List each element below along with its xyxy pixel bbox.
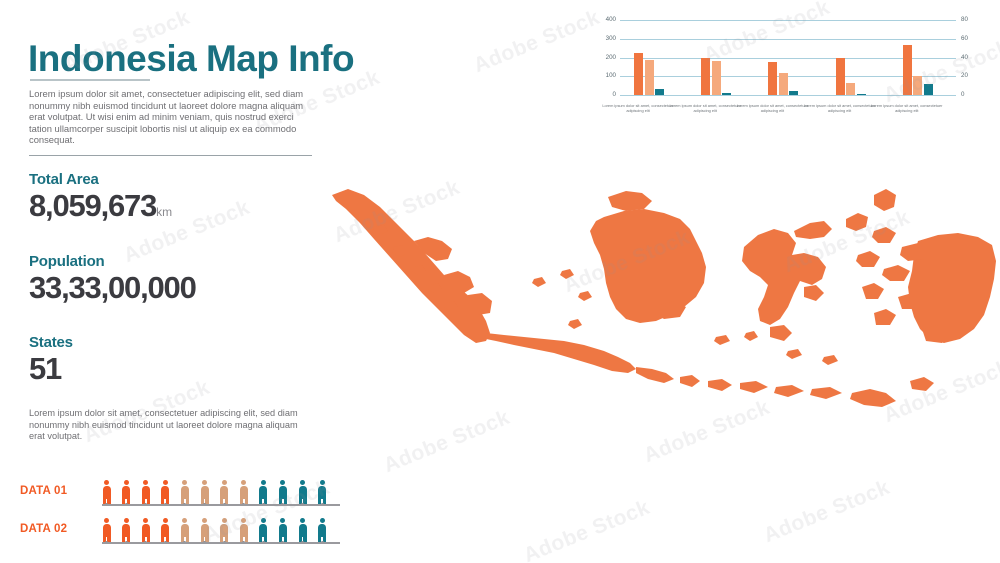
chart-category-label: Lorem ipsum dolor sit amet, consectetuer… [804,104,876,113]
chart-right-axis-tick: 0 [961,92,983,98]
map-region [862,283,884,299]
map-region [708,379,732,391]
person-icon [298,480,307,504]
person-icon [259,480,268,504]
indonesia-map [318,175,1000,460]
map-region [846,213,868,231]
person-icon [200,480,209,504]
person-icon [259,518,268,542]
stat-states: States 51 [29,334,73,387]
chart-right-axis-tick: 60 [961,36,983,42]
pictogram-baseline [102,504,340,506]
stat-total-area-label: Total Area [29,171,172,188]
chart-bar-group [768,20,798,95]
person-icon [278,480,287,504]
chart-category-label: Lorem ipsum dolor sit amet, consectetuer… [736,104,808,113]
footer-paragraph: Lorem ipsum dolor sit amet, consectetuer… [29,408,299,443]
bar-chart: 4008030060200401002000Lorem ipsum dolor … [592,14,990,114]
map-region [680,375,700,387]
chart-bar [779,73,788,95]
map-region [744,331,758,341]
pictogram-row-label: DATA 01 [20,485,96,497]
chart-bar [846,83,855,95]
chart-bar [645,60,654,95]
chart-left-axis-tick: 200 [594,55,616,61]
map-region [794,221,832,239]
map-region [770,325,792,341]
intro-paragraph: Lorem ipsum dolor sit amet, consectetuer… [29,88,319,146]
chart-category-label: Lorem ipsum dolor sit amet, consectetuer… [871,104,943,113]
title-underline [30,79,150,81]
map-region [590,209,706,323]
stat-states-label: States [29,334,73,351]
person-icon [161,480,170,504]
person-icon [239,480,248,504]
chart-category-label: Lorem ipsum dolor sit amet, consectetuer… [669,104,741,113]
stat-states-value: 51 [29,351,73,387]
map-region [774,385,804,397]
watermark-tile: Adobe Stock [520,496,653,563]
chart-left-axis-tick: 300 [594,36,616,42]
watermark-tile: Adobe Stock [470,6,603,78]
chart-bar [836,58,845,95]
person-icon [102,518,111,542]
chart-bar [722,93,731,95]
person-icon [318,480,327,504]
person-icon [122,480,131,504]
person-icon [220,518,229,542]
chart-gridline [620,95,956,96]
person-icon [141,480,150,504]
chart-bar [857,94,866,96]
map-region [874,309,896,325]
map-region [636,367,674,383]
map-region [568,319,582,329]
chart-bar-group [634,20,664,95]
chart-category-label: Lorem ipsum dolor sit amet, consectetuer… [602,104,674,113]
info-panel: Indonesia Map Info Lorem ipsum dolor sit… [0,0,360,563]
map-region [560,269,574,279]
page-title: Indonesia Map Info [28,38,354,80]
map-region [332,189,490,343]
person-icon [180,480,189,504]
stat-total-area: Total Area 8,059,673km [29,171,172,230]
stat-population-label: Population [29,253,196,270]
map-region [804,285,824,301]
chart-bar [924,84,933,95]
chart-bar [655,89,664,95]
chart-bar [913,76,922,95]
chart-left-axis-tick: 100 [594,73,616,79]
map-region [810,387,842,399]
map-region [874,189,896,211]
person-icon [200,518,209,542]
map-region [910,377,934,391]
chart-right-axis-tick: 80 [961,17,983,23]
chart-bar [789,91,798,95]
bar-chart-plot: 4008030060200401002000Lorem ipsum dolor … [620,20,956,95]
stat-population: Population 33,33,00,000 [29,253,196,306]
map-region [740,381,768,393]
chart-bar [903,45,912,95]
person-icon [180,518,189,542]
map-region [486,333,636,373]
map-region [872,227,896,243]
pictogram-row-label: DATA 02 [20,523,96,535]
map-region [856,251,880,267]
chart-right-axis-tick: 40 [961,55,983,61]
chart-bar-group [903,20,933,95]
chart-bar-group [701,20,731,95]
map-region [850,389,896,407]
person-icon [141,518,150,542]
intro-divider [29,155,312,156]
map-region [532,277,546,287]
chart-bar [701,58,710,96]
person-icon [318,518,327,542]
map-region [822,355,838,365]
person-icon [278,518,287,542]
chart-bar [768,62,777,95]
chart-bar [712,61,721,95]
map-region [608,191,652,211]
map-region [786,349,802,359]
chart-left-axis-tick: 0 [594,92,616,98]
person-icon [122,518,131,542]
map-region [578,291,592,301]
chart-bar-group [836,20,866,95]
chart-right-axis-tick: 20 [961,73,983,79]
map-region [882,265,910,281]
person-icon [298,518,307,542]
stat-total-area-unit: km [156,205,172,219]
person-icon [220,480,229,504]
watermark-tile: Adobe Stock [760,476,893,548]
person-icon [239,518,248,542]
indonesia-map-svg [318,175,1000,460]
person-icon [161,518,170,542]
chart-left-axis-tick: 400 [594,17,616,23]
person-icon [102,480,111,504]
stat-population-value: 33,33,00,000 [29,270,196,306]
map-region [742,229,826,325]
map-region [714,335,730,345]
stat-total-area-value: 8,059,673km [29,188,172,230]
chart-bar [634,53,643,95]
stat-total-area-number: 8,059,673 [29,188,156,223]
pictogram-baseline [102,542,340,544]
